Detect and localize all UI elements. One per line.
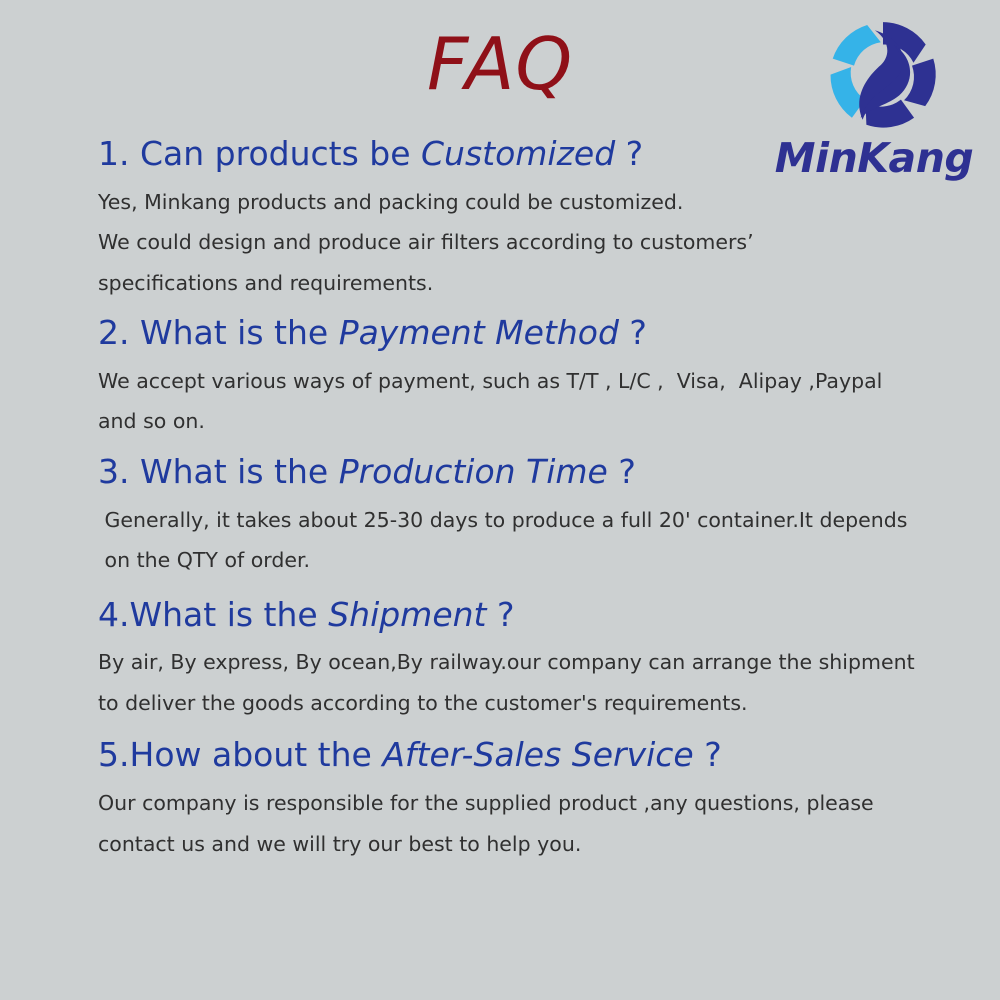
faq-page: FAQ [0,0,1000,1000]
faq-number-3: 3. [98,452,140,491]
faq-answer-4: By air, By express, By ocean,By railway.… [98,642,978,723]
faq-question-tail-5: ? [694,735,722,774]
faq-question-lead-4: What is the [130,595,329,634]
faq-answer-1: Yes, Minkang products and packing could … [98,182,978,304]
faq-question-emphasis-3: Production Time [339,452,608,491]
faq-question-emphasis-2: Payment Method [339,313,619,352]
faq-content: 1. Can products be Customized ? Yes, Min… [98,132,978,868]
faq-question-lead-3: What is the [140,452,339,491]
faq-question-4: 4.What is the Shipment ? [98,593,978,637]
faq-question-tail-1: ? [615,134,643,173]
faq-question-3: 3. What is the Production Time ? [98,450,978,494]
faq-item-1: 1. Can products be Customized ? Yes, Min… [98,132,978,303]
faq-number-5: 5. [98,735,130,774]
faq-question-tail-3: ? [608,452,636,491]
faq-number-1: 1. [98,134,140,173]
faq-answer-3: Generally, it takes about 25-30 days to … [98,500,978,581]
faq-question-1: 1. Can products be Customized ? [98,132,978,176]
faq-item-5: 5.How about the After-Sales Service ? Ou… [98,733,978,864]
faq-item-2: 2. What is the Payment Method ? We accep… [98,311,978,442]
faq-question-emphasis-5: After-Sales Service [382,735,693,774]
faq-question-tail-4: ? [486,595,514,634]
faq-number-4: 4. [98,595,130,634]
faq-question-emphasis-1: Customized [421,134,615,173]
faq-answer-5: Our company is responsible for the suppl… [98,783,978,864]
faq-question-lead-2: What is the [140,313,339,352]
faq-item-4: 4.What is the Shipment ? By air, By expr… [98,593,978,724]
faq-answer-2: We accept various ways of payment, such … [98,361,978,442]
faq-question-lead-5: How about the [130,735,383,774]
faq-question-5: 5.How about the After-Sales Service ? [98,733,978,777]
faq-question-emphasis-4: Shipment [328,595,486,634]
faq-question-tail-2: ? [619,313,647,352]
faq-number-2: 2. [98,313,140,352]
faq-question-2: 2. What is the Payment Method ? [98,311,978,355]
faq-item-3: 3. What is the Production Time ? General… [98,450,978,581]
minkang-swirl-logo-icon [822,14,944,136]
faq-question-lead-1: Can products be [140,134,421,173]
